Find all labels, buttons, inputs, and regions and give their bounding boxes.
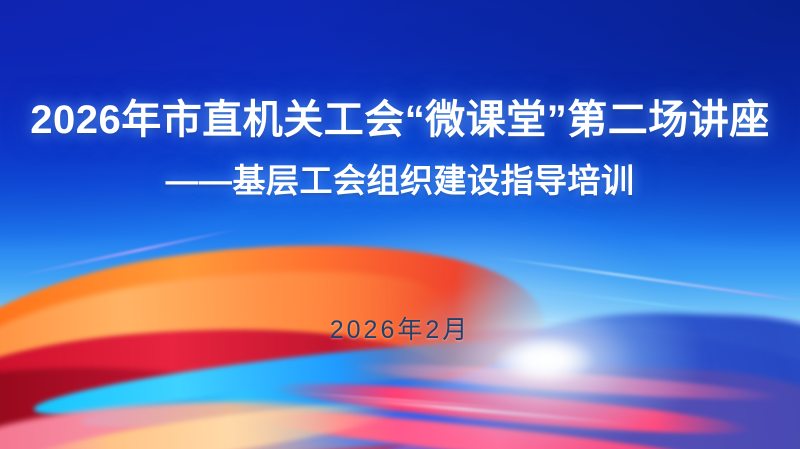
banner-subtitle: ——基层工会组织建设指导培训 <box>0 163 800 199</box>
banner-text-layer: 2026年市直机关工会“微课堂”第二场讲座 ——基层工会组织建设指导培训 202… <box>0 0 800 449</box>
banner-main-title: 2026年市直机关工会“微课堂”第二场讲座 <box>0 98 800 142</box>
banner-date: 2026年2月 <box>0 310 800 346</box>
promo-banner: 2026年市直机关工会“微课堂”第二场讲座 ——基层工会组织建设指导培训 202… <box>0 0 800 449</box>
